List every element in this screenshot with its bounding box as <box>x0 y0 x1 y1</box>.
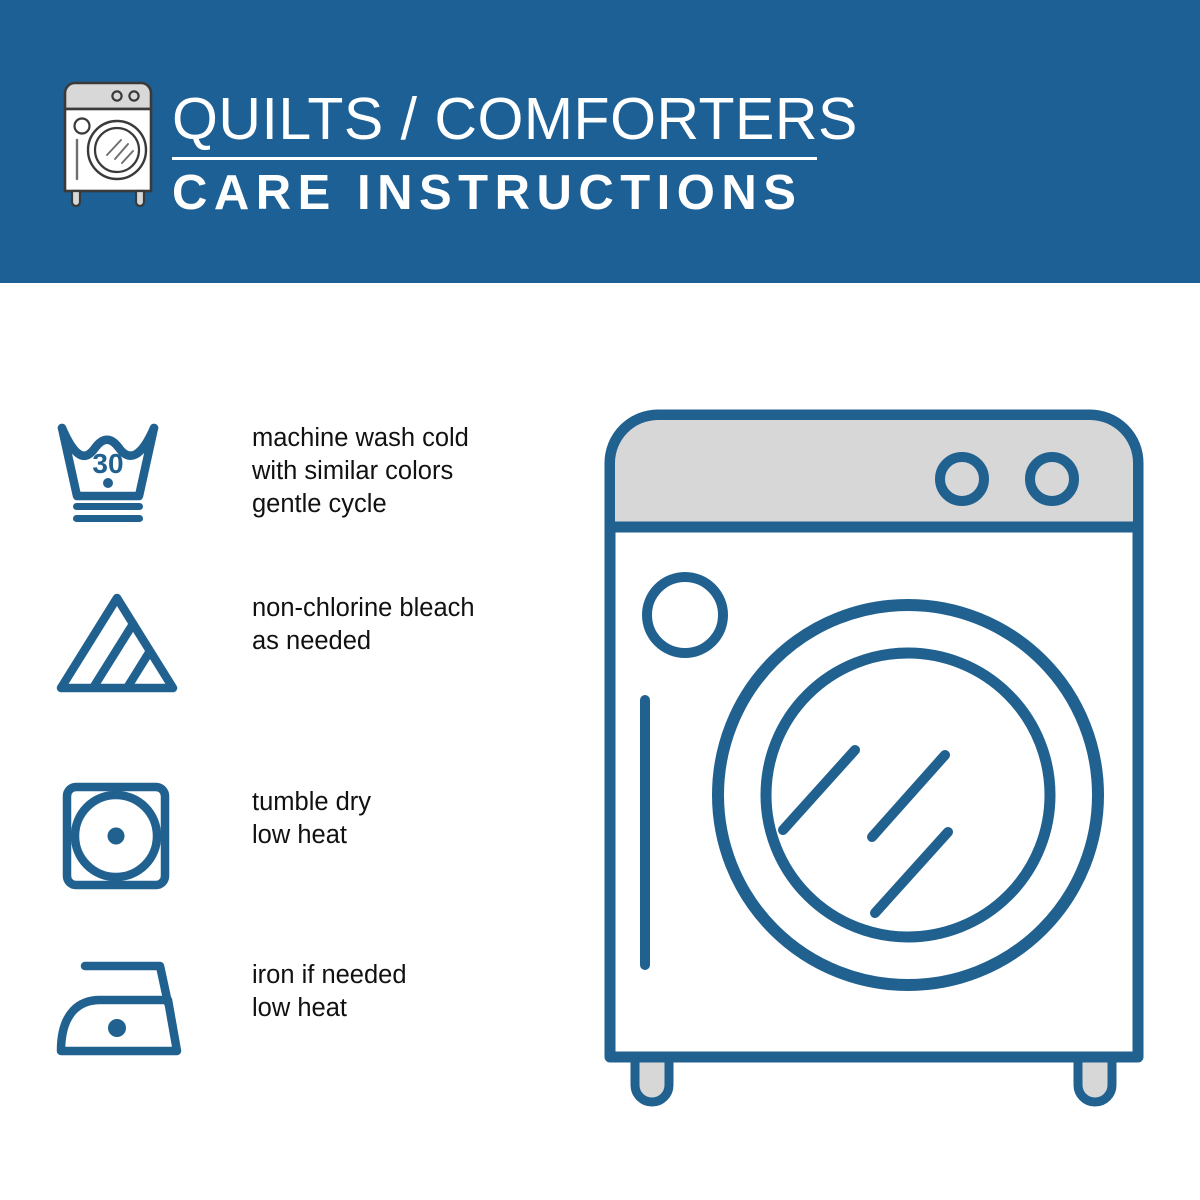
care-row-tumble-dry: tumble dry low heat <box>55 782 525 890</box>
page-title-secondary: CARE INSTRUCTIONS <box>172 166 832 220</box>
header-title-block: QUILTS / COMFORTERS CARE INSTRUCTIONS <box>172 88 832 220</box>
care-line: low heat <box>252 819 371 852</box>
title-divider <box>172 157 817 160</box>
care-text-bleach: non-chlorine bleach as needed <box>252 588 475 658</box>
care-line: iron if needed <box>252 959 407 992</box>
care-line: non-chlorine bleach <box>252 592 475 625</box>
care-line: as needed <box>252 625 475 658</box>
iron-icon <box>55 955 195 1063</box>
tumble-dry-icon <box>55 782 195 890</box>
care-row-bleach: non-chlorine bleach as needed <box>55 588 525 696</box>
care-line: gentle cycle <box>252 488 469 521</box>
care-instructions-page: QUILTS / COMFORTERS CARE INSTRUCTIONS 30… <box>0 0 1200 1200</box>
care-row-iron: iron if needed low heat <box>55 955 525 1063</box>
care-line: tumble dry <box>252 786 371 819</box>
care-row-wash: 30 machine wash cold with similar colors… <box>55 418 525 526</box>
wash-basin-30-icon: 30 <box>55 418 195 526</box>
svg-text:30: 30 <box>92 448 123 479</box>
washing-machine-illustration <box>600 405 1160 1120</box>
page-title-primary: QUILTS / COMFORTERS <box>172 88 832 150</box>
bleach-triangle-icon <box>55 588 195 696</box>
care-line: with similar colors <box>252 455 469 488</box>
care-text-tumble-dry: tumble dry low heat <box>252 782 371 852</box>
care-line: machine wash cold <box>252 422 469 455</box>
care-text-iron: iron if needed low heat <box>252 955 407 1025</box>
care-line: low heat <box>252 992 407 1025</box>
washer-control-panel <box>615 420 1133 525</box>
care-text-wash: machine wash cold with similar colors ge… <box>252 418 469 521</box>
washing-machine-icon <box>55 79 161 207</box>
header-banner: QUILTS / COMFORTERS CARE INSTRUCTIONS <box>0 0 1200 283</box>
